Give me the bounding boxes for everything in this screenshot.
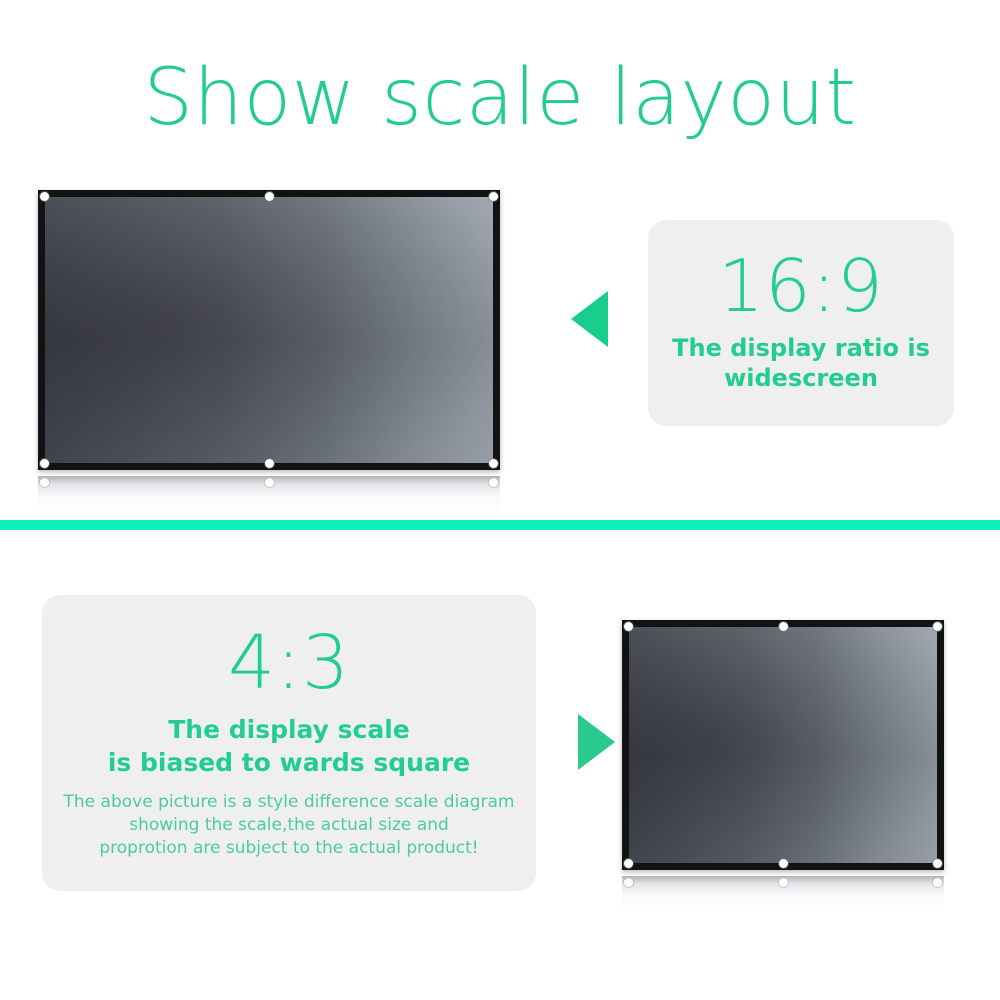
grommet-top-left <box>624 622 633 631</box>
grommet-bottom-right <box>933 859 942 868</box>
projector-screen-16-9-reflection <box>38 476 500 524</box>
reflection-grommet-right <box>489 478 498 487</box>
info-card-16-9: 16:9 The display ratio is widescreen <box>648 220 954 426</box>
ratio-note-4-3: The above picture is a style difference … <box>64 791 515 860</box>
ratio-description-4-3: The display scale is biased to wards squ… <box>108 713 470 779</box>
grommet-top-right <box>933 622 942 631</box>
arrow-right-icon <box>578 714 615 770</box>
grommet-bottom-left <box>40 459 49 468</box>
page-title: Show scale layout <box>0 52 1000 144</box>
ratio-description-line-1: The display scale <box>108 713 470 746</box>
section-divider <box>0 520 1000 530</box>
ratio-description-16-9: The display ratio is widescreen <box>672 333 930 393</box>
ratio-note-line-2: showing the scale,the actual size and <box>64 814 515 837</box>
grommet-bottom-right <box>489 459 498 468</box>
grommet-bottom-center <box>779 859 788 868</box>
grommet-top-center <box>779 622 788 631</box>
reflection-grommet-right <box>933 878 942 887</box>
ratio-note-line-3: proprotion are subject to the actual pro… <box>64 837 515 860</box>
projector-screen-16-9 <box>38 190 500 470</box>
ratio-value-4-3: 4:3 <box>228 623 350 703</box>
ratio-description-line-1: The display ratio is <box>672 333 930 363</box>
reflection-grommet-left <box>40 478 49 487</box>
grommet-top-center <box>265 192 274 201</box>
screen-surface <box>629 627 937 863</box>
grommet-bottom-center <box>265 459 274 468</box>
reflection-grommet-left <box>624 878 633 887</box>
infographic-page: Show scale layout 16:9 The display ratio… <box>0 0 1000 1000</box>
ratio-description-line-2: widescreen <box>672 363 930 393</box>
reflection-grommet-center <box>779 878 788 887</box>
projector-screen-4-3 <box>622 620 944 870</box>
ratio-note-line-1: The above picture is a style difference … <box>64 791 515 814</box>
ratio-description-line-2: is biased to wards square <box>108 746 470 779</box>
screen-surface <box>45 197 493 463</box>
ratio-value-16-9: 16:9 <box>718 247 884 325</box>
grommet-bottom-left <box>624 859 633 868</box>
projector-screen-4-3-reflection <box>622 876 944 920</box>
arrow-left-icon <box>571 291 608 347</box>
screen-frame <box>622 620 944 870</box>
grommet-top-right <box>489 192 498 201</box>
info-card-4-3: 4:3 The display scale is biased to wards… <box>42 595 536 891</box>
screen-frame <box>38 190 500 470</box>
reflection-grommet-center <box>265 478 274 487</box>
grommet-top-left <box>40 192 49 201</box>
